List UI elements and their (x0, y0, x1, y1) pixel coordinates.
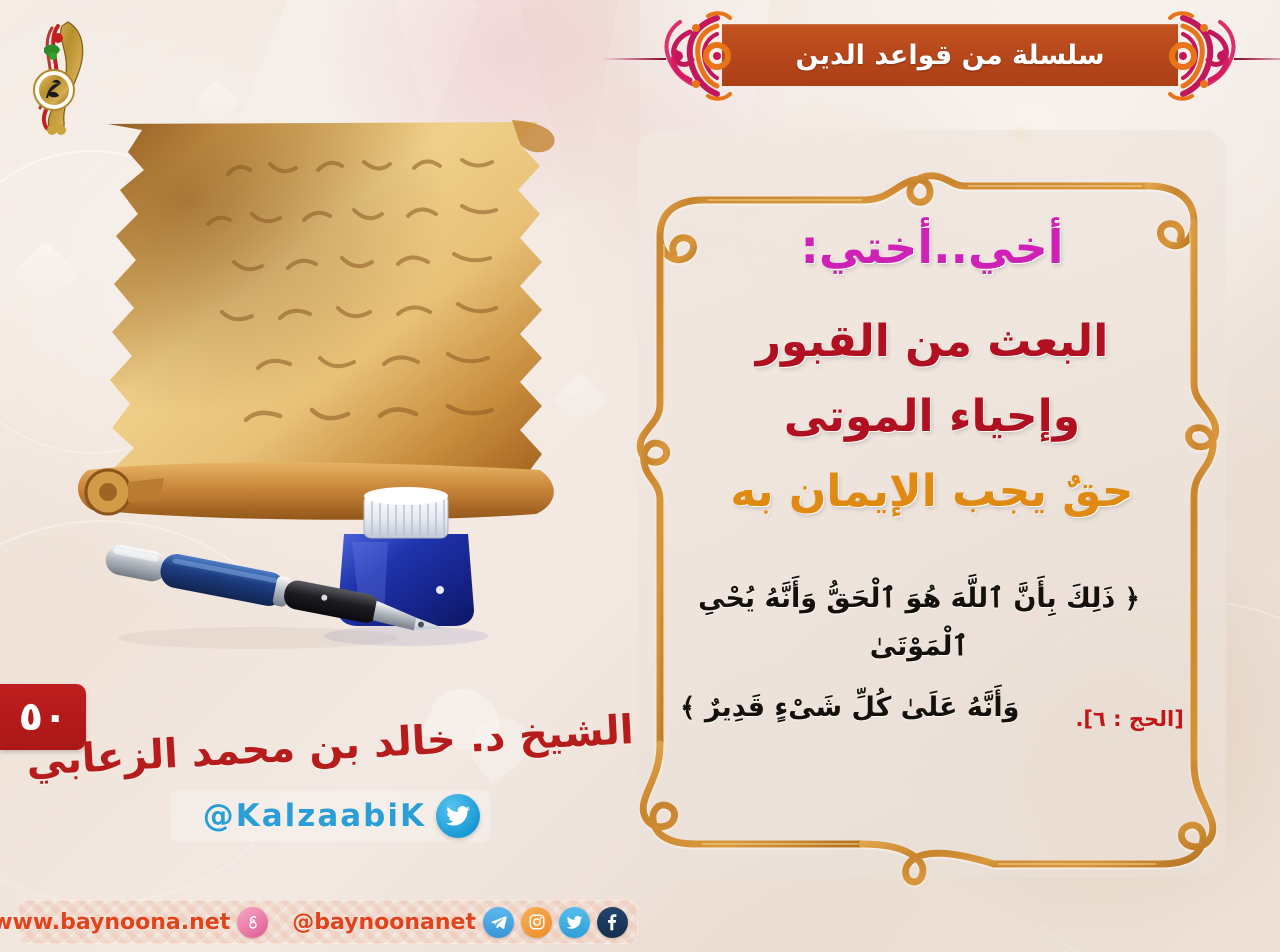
headline-line-1: البعث من القبور (660, 316, 1204, 367)
content-panel: أخي..أختي: البعث من القبور وإحياء الموتى… (612, 104, 1252, 904)
twitter-bird-icon[interactable] (436, 794, 480, 838)
greeting-line: أخي..أختي: (660, 220, 1204, 274)
footer-website[interactable]: www.baynoona.net (0, 910, 230, 935)
author-name: الشيخ د. خالد بن محمد الزعابي (88, 688, 572, 805)
headline-line-2: وإحياء الموتى (660, 391, 1204, 442)
twitter-handle-row[interactable]: @KalzaabiK (170, 790, 490, 842)
telegram-icon[interactable] (483, 907, 514, 938)
instagram-icon[interactable] (521, 907, 552, 938)
quran-verse-block: ﴿ ذَلِكَ بِأَنَّ ٱللَّهَ هُوَ ٱلْحَقُّ و… (660, 575, 1204, 731)
headline-line-3: حقٌ يجب الإيمان به (660, 466, 1204, 517)
verse-line-2: [الحج : ٦]. وَأَنَّهُ عَلَىٰ كُلِّ شَىْء… (660, 684, 1204, 732)
banner-bar: سلسلة من قواعد الدين (722, 24, 1178, 86)
banner-spike-left (602, 58, 666, 60)
arabesque-ornament-icon (662, 8, 772, 104)
footer-bar: @baynoonanet www.baynoona.net (18, 900, 638, 944)
arabesque-ornament-icon (1128, 8, 1238, 104)
verse-line-1: ﴿ ذَلِكَ بِأَنَّ ٱللَّهَ هُوَ ٱلْحَقُّ و… (660, 575, 1204, 670)
verse-open-brace: ﴿ (1125, 584, 1140, 614)
banner-title: سلسلة من قواعد الدين (722, 24, 1178, 86)
twitter-icon[interactable] (559, 907, 590, 938)
twitter-handle-text[interactable]: @KalzaabiK (203, 798, 426, 834)
poster-canvas: سلسلة من قواعد الدين (0, 0, 1280, 952)
bg-diamond-1 (12, 240, 77, 305)
verse-reference: [الحج : ٦]. (1075, 707, 1183, 731)
verse-line-2-text: وَأَنَّهُ عَلَىٰ كُلِّ شَىْءٍ قَدِيرٌ ﴾ (680, 684, 1019, 732)
verse-text-1: ذَلِكَ بِأَنَّ ٱللَّهَ هُوَ ٱلْحَقُّ وَأ… (698, 583, 1115, 662)
header-banner: سلسلة من قواعد الدين (660, 14, 1240, 96)
panel-text-content: أخي..أختي: البعث من القبور وإحياء الموتى… (660, 144, 1204, 868)
banner-spike-right (1234, 58, 1280, 60)
fountain-pen-image (88, 452, 538, 652)
facebook-icon[interactable] (597, 907, 628, 938)
footer-handle[interactable]: @baynoonanet (292, 910, 476, 935)
baynoona-site-icon[interactable] (237, 907, 268, 938)
verse-close-brace: ﴾ (680, 693, 695, 723)
verse-text-2: وَأَنَّهُ عَلَىٰ كُلِّ شَىْءٍ قَدِيرٌ (705, 692, 1020, 723)
